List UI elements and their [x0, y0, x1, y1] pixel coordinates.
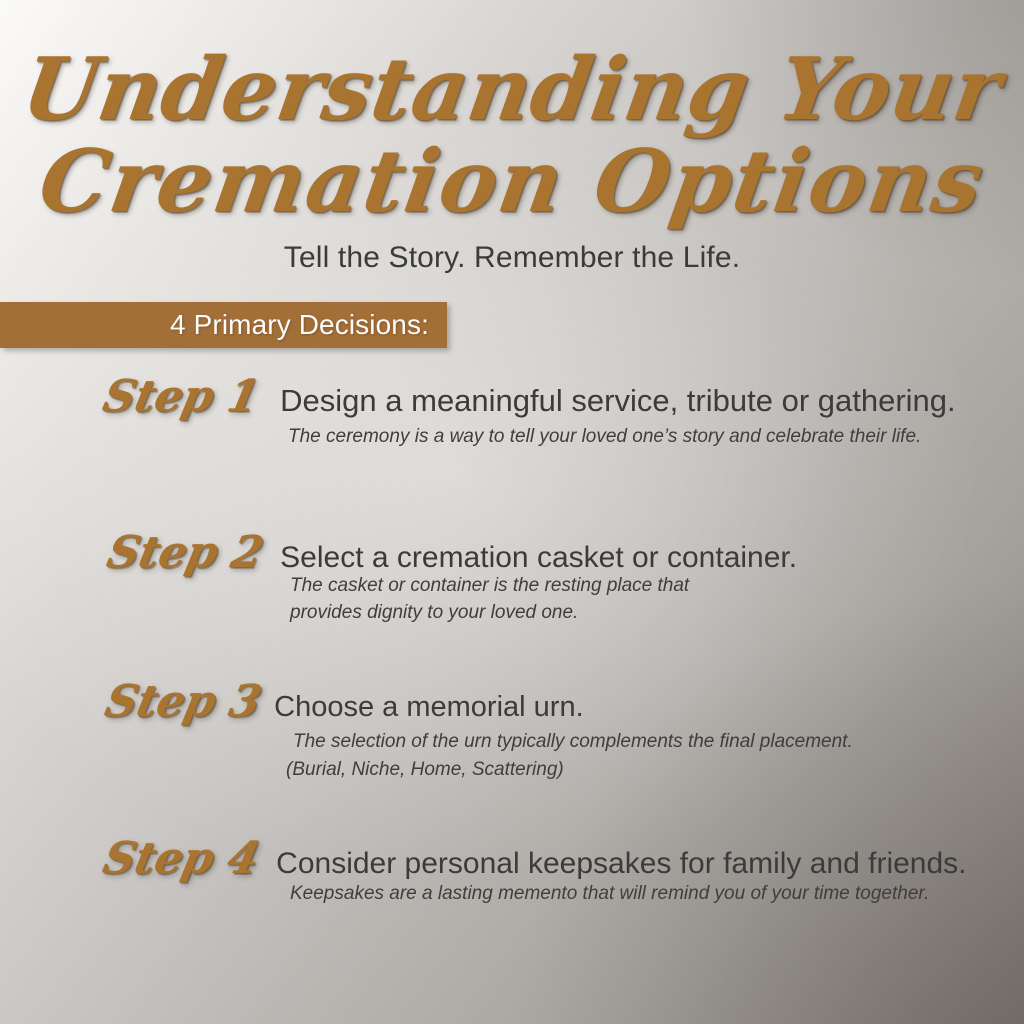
step-2-description-line-1: The casket or container is the resting p…	[290, 572, 689, 599]
step-4-heading: Consider personal keepsakes for family a…	[276, 846, 966, 881]
poster-subtitle: Tell the Story. Remember the Life.	[0, 241, 1024, 275]
step-4-label: Step 4	[99, 835, 263, 883]
step-2-description-line-2: provides dignity to your loved one.	[290, 599, 689, 626]
poster-title: Understanding Your Cremation Options	[0, 44, 1024, 228]
step-3-description: The selection of the urn typically compl…	[286, 728, 853, 784]
step-3-row: Step 3 Choose a memorial urn.	[106, 678, 584, 726]
step-4-description: Keepsakes are a lasting memento that wil…	[290, 881, 929, 906]
step-1-label: Step 1	[99, 373, 263, 421]
step-1-row: Step 1 Design a meaningful service, trib…	[104, 373, 956, 421]
step-1-description: The ceremony is a way to tell your loved…	[288, 424, 921, 449]
title-line-2: Cremation Options	[0, 136, 1024, 228]
title-line-1: Understanding Your	[0, 44, 1024, 136]
step-2-row: Step 2 Select a cremation casket or cont…	[108, 529, 797, 577]
step-1-description-line-1: The ceremony is a way to tell your loved…	[288, 424, 921, 449]
step-2-label: Step 2	[103, 529, 267, 577]
primary-decisions-banner: 4 Primary Decisions:	[0, 302, 447, 348]
step-2-description: The casket or container is the resting p…	[290, 572, 689, 626]
step-4-description-line-1: Keepsakes are a lasting memento that wil…	[290, 881, 929, 906]
step-4-row: Step 4 Consider personal keepsakes for f…	[104, 835, 967, 883]
step-1-heading: Design a meaningful service, tribute or …	[280, 383, 955, 419]
step-3-label: Step 3	[101, 678, 265, 726]
step-3-description-line-2: (Burial, Niche, Home, Scattering)	[286, 756, 853, 784]
step-3-description-line-1: The selection of the urn typically compl…	[286, 728, 853, 756]
step-2-heading: Select a cremation casket or container.	[280, 540, 797, 575]
step-3-heading: Choose a memorial urn.	[274, 690, 583, 724]
poster-canvas: Understanding Your Cremation Options Tel…	[0, 0, 1024, 1024]
primary-decisions-banner-label: 4 Primary Decisions:	[170, 310, 429, 340]
